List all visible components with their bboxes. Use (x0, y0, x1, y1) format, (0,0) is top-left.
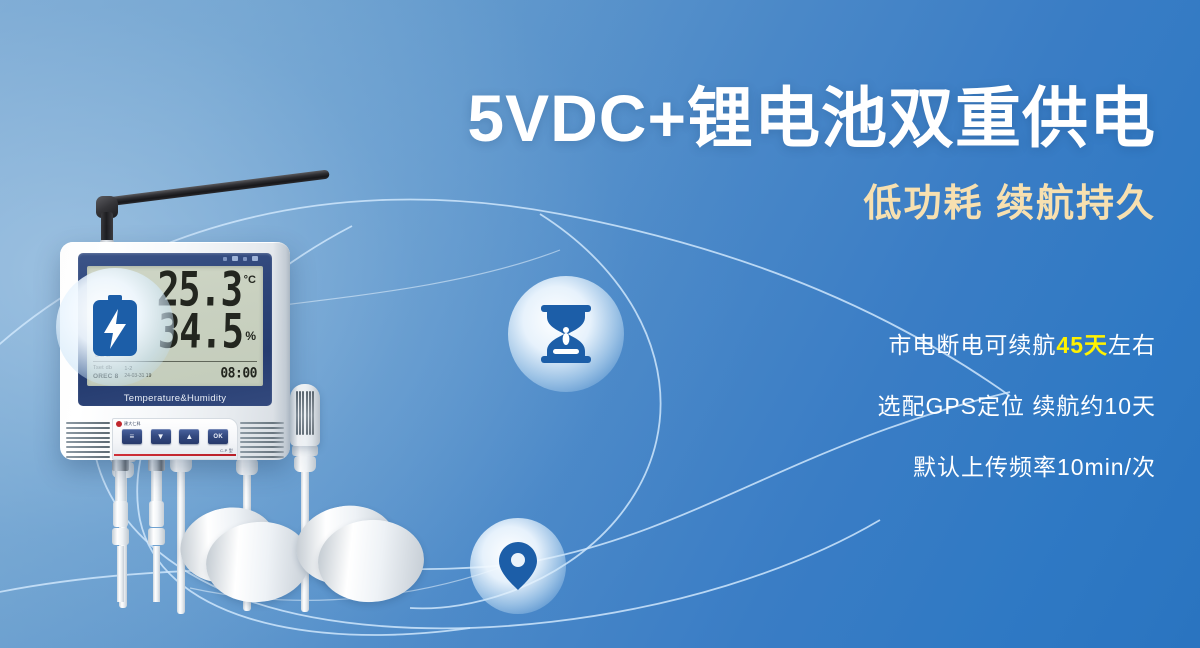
status-indicator-lights (223, 256, 258, 261)
brand-mark-icon (116, 421, 122, 427)
temperature-reading: 25.3 °C (157, 271, 256, 308)
page-subtitle: 低功耗 续航持久 (500, 182, 1156, 228)
feature-item: 市电断电可续航45天左右 (888, 334, 1156, 357)
chevron-up-icon: ▲ (185, 433, 193, 441)
menu-button[interactable]: ≡ (122, 429, 142, 444)
probe-cap (290, 384, 320, 446)
location-badge (470, 518, 566, 614)
connector-cable (153, 546, 160, 602)
down-button[interactable]: ▼ (151, 429, 171, 444)
feature-item: 默认上传频率10min/次 (913, 456, 1156, 479)
hourglass-badge (508, 276, 624, 392)
lcd-clock: 08:00 (220, 365, 257, 382)
device-connector (112, 458, 129, 602)
location-pin-icon (498, 541, 538, 591)
up-button[interactable]: ▲ (179, 429, 199, 444)
menu-icon: ≡ (129, 433, 134, 441)
ok-button[interactable]: OK (208, 429, 228, 444)
probe-vent-slots (296, 391, 314, 435)
chevron-down-icon: ▼ (157, 433, 165, 441)
feature-text-pre: 默认上传频率10min/次 (913, 454, 1156, 480)
hourglass-icon (538, 305, 594, 363)
feature-text-highlight: 45天 (1056, 332, 1108, 358)
feature-text-post: 左右 (1108, 332, 1156, 358)
brand-name: 建大仁科 (124, 421, 141, 427)
device-model: C-P 型 (220, 448, 233, 454)
feature-item: 选配GPS定位 续航约10天 (877, 395, 1156, 418)
battery-badge (56, 268, 174, 386)
ok-icon: OK (213, 434, 223, 440)
probe-collar (292, 445, 318, 456)
product-banner: 25.3 °C 34.5 % LOG Tset db OREC 8 (0, 0, 1200, 648)
accent-stripe (114, 454, 236, 456)
vent-grille-left (66, 422, 110, 458)
connector-sleeve (149, 501, 164, 527)
connector-sleeve (113, 501, 128, 527)
probe-gland (294, 456, 316, 472)
button-panel: 建大仁科 ≡ ▼ ▲ OK (112, 418, 238, 460)
probe-gland (236, 459, 258, 475)
battery-icon (89, 295, 141, 359)
connector-ring (148, 528, 165, 545)
feature-text-pre: 市电断电可续航 (888, 332, 1056, 358)
connector-tube (151, 471, 162, 501)
humidity-unit: % (245, 329, 256, 343)
feature-text-pre: 选配GPS定位 续航约10天 (877, 393, 1156, 419)
control-area: 建大仁科 ≡ ▼ ▲ OK (60, 418, 290, 460)
connector-tube (115, 471, 126, 501)
connector-cable (117, 546, 124, 602)
device-button-row: ≡ ▼ ▲ OK (113, 429, 237, 444)
connector-ring (112, 528, 129, 545)
device-caption: Temperature&Humidity (78, 393, 272, 404)
brand-logo: 建大仁科 (116, 421, 141, 427)
feature-list: 市电断电可续航45天左右 选配GPS定位 续航约10天 默认上传频率10min/… (696, 334, 1156, 479)
vent-grille-right (240, 422, 284, 458)
device-connector (148, 458, 165, 602)
page-title: 5VDC+锂电池双重供电 (366, 84, 1156, 153)
temperature-unit: °C (244, 274, 256, 286)
antenna-rod (102, 169, 329, 207)
